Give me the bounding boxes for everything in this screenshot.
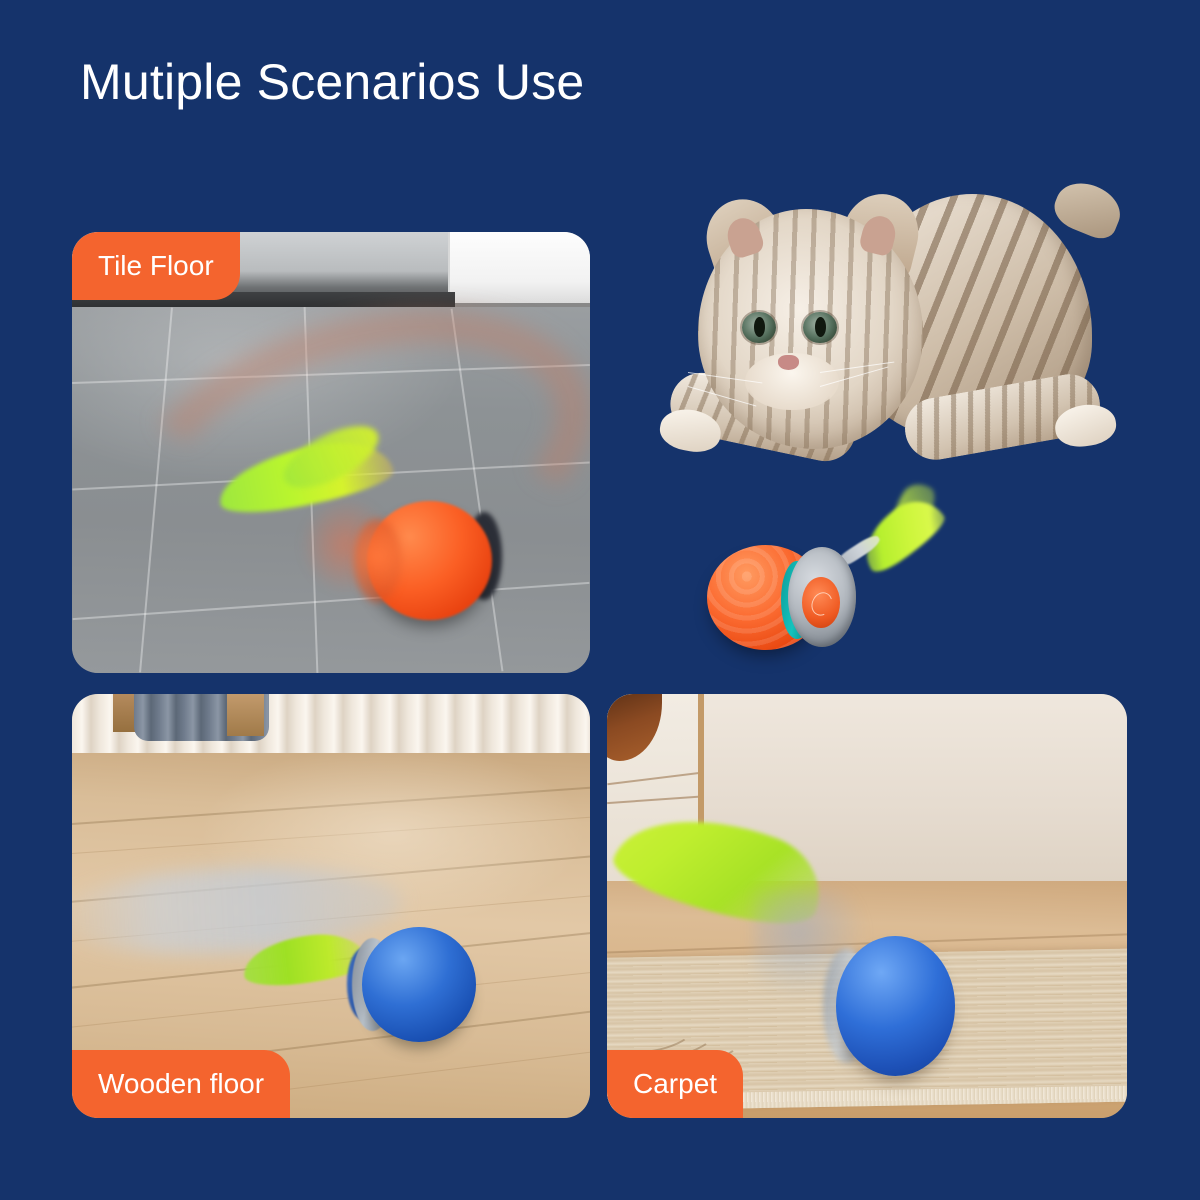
- cat-pupil-left: [754, 317, 765, 337]
- badge-wooden-floor: Wooden floor: [72, 1050, 290, 1118]
- badge-tile-floor: Tile Floor: [72, 232, 240, 300]
- curtains: [72, 694, 590, 758]
- badge-label: Tile Floor: [98, 252, 214, 280]
- scenario-panel-carpet[interactable]: Carpet: [607, 694, 1127, 1118]
- page-title: Mutiple Scenarios Use: [80, 55, 584, 110]
- badge-label: Wooden floor: [98, 1070, 264, 1098]
- hero-cat-and-product: [660, 175, 1130, 655]
- cat-pupil-right: [815, 317, 826, 337]
- product-ball-blue: [362, 927, 476, 1041]
- product-ball-blue: [836, 936, 956, 1076]
- marketing-graphic: Mutiple Scenarios Use Tile Floor: [0, 0, 1200, 1200]
- badge-carpet: Carpet: [607, 1050, 743, 1118]
- product-ball-cap: [354, 519, 401, 603]
- artwork-shape: [607, 694, 662, 761]
- badge-label: Carpet: [633, 1070, 717, 1098]
- product-toy-hero: [707, 521, 933, 655]
- chair-leg: [227, 694, 263, 736]
- scenario-panel-tile[interactable]: Tile Floor: [72, 232, 590, 673]
- cat-tail: [1048, 174, 1127, 243]
- scenario-panel-wood[interactable]: Wooden floor: [72, 694, 590, 1118]
